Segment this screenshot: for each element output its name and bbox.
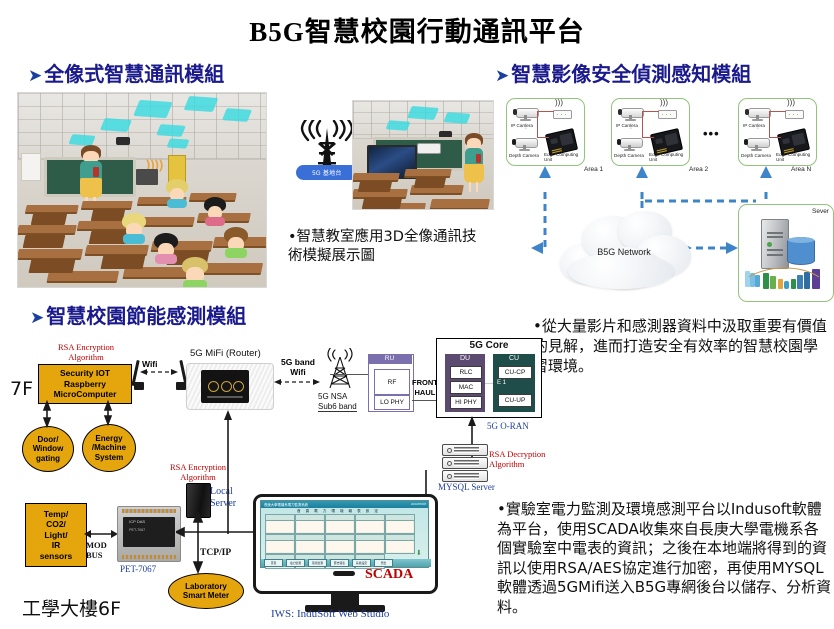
caption-holographic: •智慧教室應用3D全像通訊技術模擬展示圖 [288,228,488,266]
server-box: Sever [738,204,834,302]
student-avatar [122,213,146,241]
section-heading-energy-label: 智慧校園節能感測模組 [46,304,246,328]
5g-nsa-label: 5G NSASub6 band [318,392,357,412]
mysql-server-label: MYSQL Server [438,482,495,492]
cu-block: CU CU-CP E 1 CU-UP [493,354,535,412]
scada-panel [385,534,415,554]
scada-screen[interactable]: 長庚大學電機系電力監測系統 2023/05/08 首 頁 電 力 環 境 報 表… [260,500,429,568]
scada-panel [265,534,295,554]
cu-title: CU [493,355,535,362]
scada-menu-button: 登出 [374,559,393,567]
cu-cell-up: CU-UP [498,394,532,407]
caption-video-security: •從大量影片和感測器資料中汲取重要有價值的見解，進而打造安全有效率的智慧校園學習… [533,316,828,376]
bullet-arrow-icon: ➤ [30,308,44,328]
cu-e1-label: E 1 [497,380,506,386]
lab-smart-meter-label: LaboratorySmart Meter [183,582,229,601]
ru-unit: RU RF LO PHY [368,354,414,412]
b5g-network-cloud: B5G Network [554,208,694,292]
student-avatar [166,179,188,205]
scada-menu-button: 首頁 [264,559,283,567]
pet-7067-module: ICP DAS PET-7067 [117,506,181,562]
ru-rf-cell: RF [374,369,410,395]
scada-panel [355,514,385,534]
cloud-label: B5G Network [554,247,694,257]
5g-base-station-badge: 5G 基地台 [296,165,358,180]
av-cabinet [136,169,158,185]
fronthaul-label: FRONTHAUL [412,378,438,398]
mysql-server-icon [442,444,486,480]
holo-panel [166,138,189,148]
holo-panel [156,124,186,137]
section-heading-video-security-label: 智慧影像安全偵測感知模組 [511,62,751,86]
modbus-label: MODBUS [86,540,107,560]
scada-titlebar: 長庚大學電機系電力監測系統 2023/05/08 [261,501,428,508]
ru-title: RU [368,354,412,364]
section-heading-energy: ➤智慧校園節能感測模組 [30,300,246,329]
surveillance-architecture-diagram: IP Camera ⋮ Depth Camera Edge ComputingU… [498,96,834,301]
du-cell-hiphy: HI PHY [450,396,482,409]
scada-menu-button: 環境監測 [308,559,327,567]
5g-nsa-tower-icon [320,348,360,390]
classroom-scene: )))) [18,93,266,287]
server-tower-icon [761,219,789,269]
database-icon [787,237,815,265]
holo-panel [100,118,132,132]
du-cell-mac: MAC [450,381,482,394]
section-heading-holographic: ➤全像式智慧通訊模組 [28,58,224,87]
du-block: DU RLC MAC HI PHY [445,354,485,412]
iws-label: IWS: InduSoft Web Studio [271,608,389,620]
scada-title-text: 長庚大學電機系電力監測系統 [264,502,308,507]
scada-monitor: 長庚大學電機系電力監測系統 2023/05/08 首 頁 電 力 環 境 報 表… [253,494,438,594]
cu-cell-cp: CU-CP [498,366,532,379]
classroom-photo-holographic: )))) [17,92,267,288]
section-heading-holographic-label: 全像式智慧通訊模組 [44,62,224,86]
scada-menu-button: 系統設定 [352,559,371,567]
scada-menu-button: 電力監測 [286,559,305,567]
classroom-photo-display [352,100,494,210]
sensors-box: Temp/CO2/Light/IRsensors [25,503,87,567]
scada-time: 2023/05/08 [411,502,426,506]
holo-panel [133,100,173,118]
scada-nav-row: 首 頁 電 力 環 境 報 表 設 定 [297,509,380,514]
teacher-avatar [76,145,106,207]
scroll-down-icon[interactable]: ⬇ [416,549,422,557]
scada-toolbar[interactable]: 首頁 電力監測 環境監測 歷史報表 系統設定 登出 [261,559,431,567]
bullet-arrow-icon: ➤ [28,66,42,86]
section-heading-video-security: ➤智慧影像安全偵測感知模組 [495,58,751,87]
scada-panel [295,534,325,554]
scada-panel [325,514,355,534]
tcpip-label: TCP/IP [200,548,231,558]
scada-panel [355,534,385,554]
lab-smart-meter-node: LaboratorySmart Meter [168,573,244,609]
scada-panel [385,514,415,534]
student-avatar [204,197,226,223]
student-avatar [182,257,208,287]
rsa-decryption-label: RSA DecryptionAlgorithm [489,449,545,469]
monitor-notch [333,571,355,576]
server-label: Sever [812,208,829,215]
caption-scada: •實驗室電力監測及環境感測平台以Indusoft軟體為平台，使用SCADA收集來… [497,500,833,617]
projector [116,137,130,145]
5g-base-station-icon [296,120,358,198]
student-avatar [154,233,178,261]
security-camera [417,143,441,154]
holo-panel [184,96,219,112]
teacher-avatar [461,133,487,191]
5g-core-box: 5G Core DU RLC MAC HI PHY CU CU-CP E 1 C… [436,338,542,418]
scada-panel [325,534,355,554]
pet-7067-label: PET-7067 [120,564,156,574]
scada-word-label: SCADA [365,567,413,583]
scada-panel [265,514,295,534]
sensors-label: Temp/CO2/Light/IRsensors [40,509,73,562]
ru-lophy-cell: LO PHY [374,395,410,410]
bullet-arrow-icon: ➤ [495,66,509,86]
student-avatar [224,227,248,255]
scada-panel [295,514,325,534]
du-cell-rlc: RLC [450,366,482,379]
window [21,153,41,181]
holo-panel [222,108,252,122]
5g-core-title: 5G Core [437,340,541,351]
scada-menu-button: 歷史報表 [330,559,349,567]
page-title: B5G智慧校園行動通訊平台 [0,10,834,49]
du-title: DU [445,355,485,362]
5g-oran-label: 5G O-RAN [487,421,529,431]
